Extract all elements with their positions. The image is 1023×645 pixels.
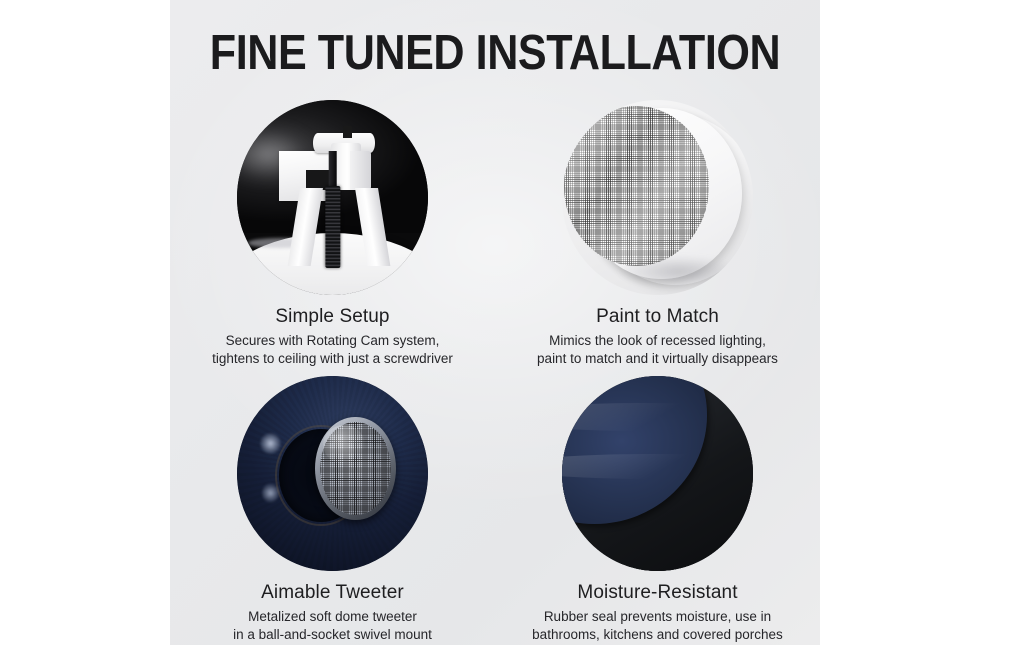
feature-description-line: Secures with Rotating Cam system, xyxy=(170,332,495,350)
page-title: FINE TUNED INSTALLATION xyxy=(209,26,781,80)
tweeter-dome-gloss xyxy=(323,425,365,464)
feature-description-line: Mimics the look of recessed lighting, xyxy=(495,332,820,350)
caption-aimable-tweeter: Aimable Tweeter Metalized soft dome twee… xyxy=(170,581,495,643)
feature-description-line: paint to match and it virtually disappea… xyxy=(495,350,820,368)
feature-card-paint-to-match: Paint to Match Mimics the look of recess… xyxy=(495,96,820,371)
caption-paint-to-match: Paint to Match Mimics the look of recess… xyxy=(495,305,820,367)
cam-threaded-screw xyxy=(325,186,340,268)
caption-moisture-resistant: Moisture-Resistant Rubber seal prevents … xyxy=(495,581,820,643)
feature-title: Aimable Tweeter xyxy=(170,581,495,605)
feature-description-line: in a ball-and-socket swivel mount xyxy=(170,626,495,644)
feature-description: Metalized soft dome tweeter in a ball-an… xyxy=(170,608,495,643)
socket-highlight-lower xyxy=(262,483,279,503)
cam-screw-shaft xyxy=(328,151,337,190)
white-round-speaker-grille-photo xyxy=(562,100,753,295)
feature-card-moisture-resistant: Moisture-Resistant Rubber seal prevents … xyxy=(495,376,820,645)
surround-highlight-3 xyxy=(562,454,753,479)
feature-description-line: Rubber seal prevents moisture, use in xyxy=(495,608,820,626)
feature-card-simple-setup: Simple Setup Secures with Rotating Cam s… xyxy=(170,96,495,371)
feature-grid: Simple Setup Secures with Rotating Cam s… xyxy=(170,96,820,641)
feature-description: Secures with Rotating Cam system, tighte… xyxy=(170,332,495,367)
feature-description-line: Metalized soft dome tweeter xyxy=(170,608,495,626)
product-feature-graphic: FINE TUNED INSTALLATION Simple xyxy=(0,0,1023,645)
caption-simple-setup: Simple Setup Secures with Rotating Cam s… xyxy=(170,305,495,367)
grille-mesh-sheen xyxy=(564,106,709,266)
rotating-cam-mount-photo xyxy=(237,100,428,295)
feature-title: Moisture-Resistant xyxy=(495,581,820,605)
socket-highlight-upper xyxy=(260,433,281,454)
dome-tweeter-swivel-photo xyxy=(237,376,428,571)
cam-shoulder xyxy=(350,151,371,190)
rubber-surround-closeup-photo xyxy=(562,376,753,571)
grille-drop-shadow xyxy=(619,256,737,287)
feature-title: Paint to Match xyxy=(495,305,820,329)
feature-card-aimable-tweeter: Aimable Tweeter Metalized soft dome twee… xyxy=(170,376,495,645)
cam-screw-head xyxy=(343,126,352,138)
surround-highlight-2 xyxy=(562,403,753,430)
feature-description: Mimics the look of recessed lighting, pa… xyxy=(495,332,820,367)
feature-description-line: tightens to ceiling with just a screwdri… xyxy=(170,350,495,368)
feature-description: Rubber seal prevents moisture, use in ba… xyxy=(495,608,820,643)
feature-title: Simple Setup xyxy=(170,305,495,329)
feature-description-line: bathrooms, kitchens and covered porches xyxy=(495,626,820,644)
